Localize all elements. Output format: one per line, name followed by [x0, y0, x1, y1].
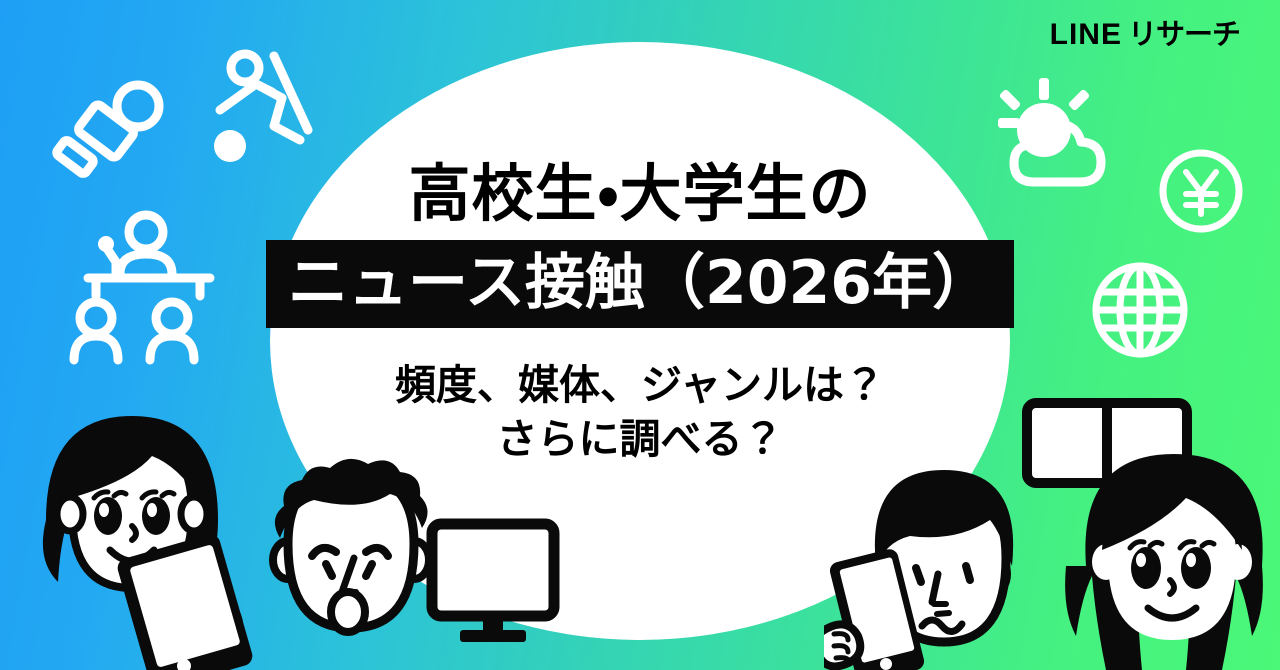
thumbnail-canvas: 高校生・大学生の ニュース接触（2026年） 頻度、媒体、ジャンルは？ さらに調…	[0, 0, 1280, 670]
press-conference-icon	[68, 208, 228, 363]
desktop-monitor-icon	[428, 520, 558, 645]
microphone-icon	[52, 78, 172, 188]
logo-line-text: LINE	[1050, 20, 1122, 50]
globe-icon	[1090, 260, 1190, 360]
logo-research-text: リサーチ	[1128, 20, 1240, 49]
soccer-player-icon	[212, 48, 327, 168]
line-research-logo: LINE リサーチ	[1050, 20, 1240, 50]
girl-with-tablet	[34, 404, 264, 670]
girl-long-hair	[1064, 450, 1280, 670]
weather-sun-cloud-icon	[992, 78, 1132, 198]
yen-currency-icon	[1158, 148, 1244, 234]
boy-with-smartphone	[824, 462, 1034, 670]
boy-surprised	[264, 452, 440, 652]
